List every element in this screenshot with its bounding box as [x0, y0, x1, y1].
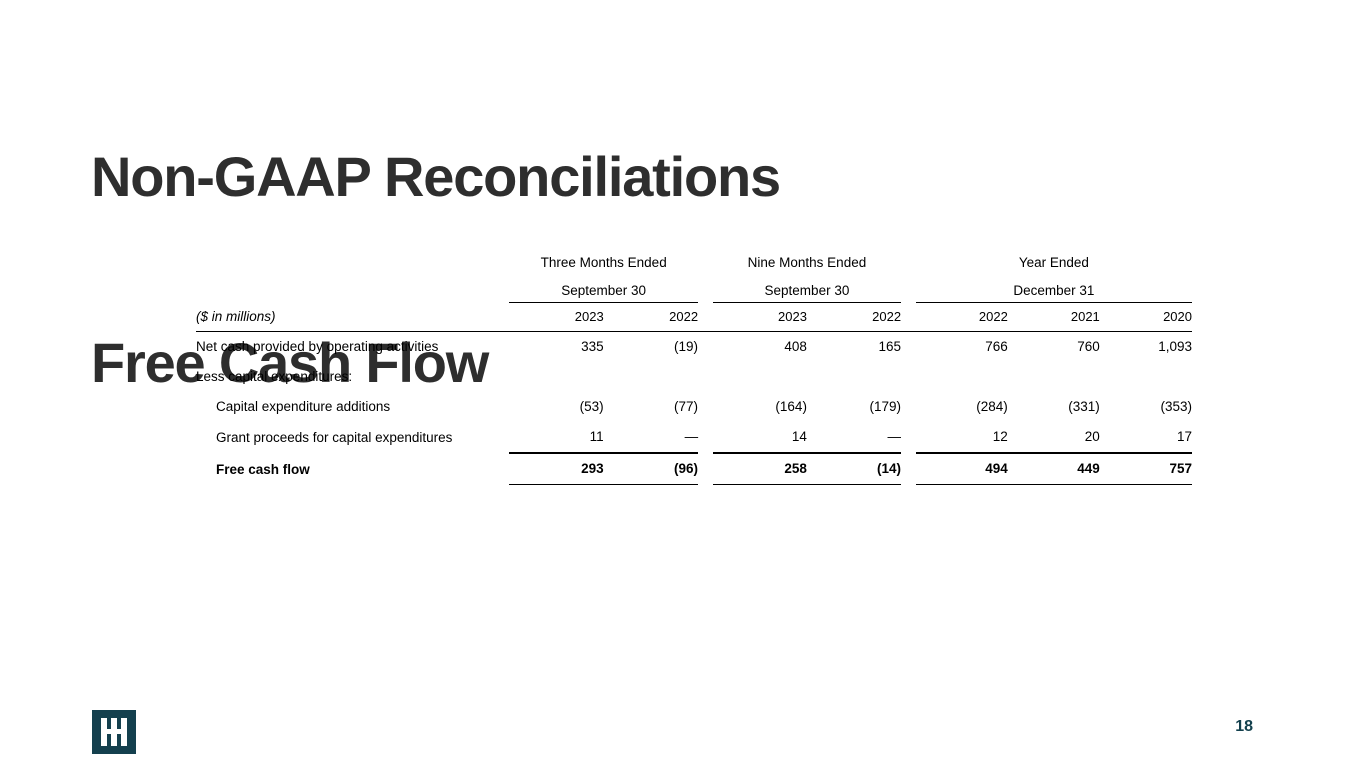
group-title-nine-months: Nine Months Ended [713, 250, 901, 276]
cell-net-cash-ytd-2022: 165 [807, 332, 901, 363]
group-subtitle-spacer [196, 276, 509, 303]
cell-capex-additions-fy-2020: (353) [1100, 392, 1192, 422]
year-header-gap-1 [698, 303, 713, 332]
cell-grant-proceeds-fy-2022: 12 [916, 422, 1008, 453]
cell-grant-proceeds-ytd-2023: 14 [713, 422, 807, 453]
cell-less-capex-ytd-2022 [807, 362, 901, 392]
cell-free-cash-flow-ytd-2023: 258 [713, 453, 807, 485]
group-subtitle-gap-1 [698, 276, 713, 303]
table-row: Capital expenditure additions (53) (77) … [196, 392, 1192, 422]
cell-free-cash-flow-fy-2021: 449 [1008, 453, 1100, 485]
row-label-capex-additions: Capital expenditure additions [196, 392, 509, 422]
cell-free-cash-flow-fy-2022: 494 [916, 453, 1008, 485]
row-gap-1 [698, 453, 713, 485]
page-number: 18 [1235, 718, 1253, 736]
column-header-fy-2021: 2021 [1008, 303, 1100, 332]
company-logo [92, 710, 136, 754]
cell-capex-additions-ytd-2023: (164) [713, 392, 807, 422]
cell-less-capex-q3-2023 [509, 362, 603, 392]
cell-less-capex-fy-2022 [916, 362, 1008, 392]
column-header-fy-2020: 2020 [1100, 303, 1192, 332]
cell-grant-proceeds-q3-2023: 11 [509, 422, 603, 453]
row-label-free-cash-flow: Free cash flow [196, 453, 509, 485]
table-row: Less capital expenditures: [196, 362, 1192, 392]
cell-grant-proceeds-fy-2021: 20 [1008, 422, 1100, 453]
cell-net-cash-fy-2022: 766 [916, 332, 1008, 363]
row-gap-2 [901, 362, 916, 392]
row-gap-1 [698, 422, 713, 453]
group-subtitle-gap-2 [901, 276, 916, 303]
table-year-header-row: ($ in millions) 2023 2022 2023 2022 2022… [196, 303, 1192, 332]
group-subtitle-three-months: September 30 [509, 276, 698, 303]
cell-net-cash-q3-2023: 335 [509, 332, 603, 363]
column-header-ytd-2023: 2023 [713, 303, 807, 332]
cell-less-capex-q3-2022 [604, 362, 698, 392]
cell-free-cash-flow-q3-2023: 293 [509, 453, 603, 485]
cell-free-cash-flow-q3-2022: (96) [604, 453, 698, 485]
row-label-less-capex: Less capital expenditures: [196, 362, 509, 392]
row-gap-1 [698, 332, 713, 363]
cell-net-cash-q3-2022: (19) [604, 332, 698, 363]
row-gap-2 [901, 332, 916, 363]
year-header-gap-2 [901, 303, 916, 332]
cell-free-cash-flow-ytd-2022: (14) [807, 453, 901, 485]
page-title-line-1: Non-GAAP Reconciliations [91, 146, 780, 208]
row-gap-2 [901, 422, 916, 453]
cell-net-cash-fy-2020: 1,093 [1100, 332, 1192, 363]
cell-capex-additions-fy-2021: (331) [1008, 392, 1100, 422]
cell-grant-proceeds-fy-2020: 17 [1100, 422, 1192, 453]
column-header-q3-2023: 2023 [509, 303, 603, 332]
table-row: Grant proceeds for capital expenditures … [196, 422, 1192, 453]
cell-net-cash-fy-2021: 760 [1008, 332, 1100, 363]
table-row: Net cash provided by operating activitie… [196, 332, 1192, 363]
row-gap-1 [698, 392, 713, 422]
cell-less-capex-fy-2021 [1008, 362, 1100, 392]
unit-label: ($ in millions) [196, 303, 509, 332]
row-label-net-cash: Net cash provided by operating activitie… [196, 332, 509, 363]
column-header-ytd-2022: 2022 [807, 303, 901, 332]
group-subtitle-year-ended: December 31 [916, 276, 1192, 303]
table-row-total: Free cash flow 293 (96) 258 (14) 494 449… [196, 453, 1192, 485]
group-title-gap-1 [698, 250, 713, 276]
row-label-grant-proceeds: Grant proceeds for capital expenditures [196, 422, 509, 453]
cell-capex-additions-ytd-2022: (179) [807, 392, 901, 422]
row-gap-2 [901, 453, 916, 485]
table-group-title-row: Three Months Ended Nine Months Ended Yea… [196, 250, 1192, 276]
row-gap-1 [698, 362, 713, 392]
column-header-fy-2022: 2022 [916, 303, 1008, 332]
cell-less-capex-ytd-2023 [713, 362, 807, 392]
cell-grant-proceeds-ytd-2022: — [807, 422, 901, 453]
group-title-three-months: Three Months Ended [509, 250, 698, 276]
group-title-gap-2 [901, 250, 916, 276]
cell-capex-additions-fy-2022: (284) [916, 392, 1008, 422]
column-header-q3-2022: 2022 [604, 303, 698, 332]
cell-capex-additions-q3-2022: (77) [604, 392, 698, 422]
row-gap-2 [901, 392, 916, 422]
group-title-year-ended: Year Ended [916, 250, 1192, 276]
cell-grant-proceeds-q3-2022: — [604, 422, 698, 453]
free-cash-flow-table: Three Months Ended Nine Months Ended Yea… [196, 250, 1192, 485]
group-subtitle-nine-months: September 30 [713, 276, 901, 303]
cell-free-cash-flow-fy-2020: 757 [1100, 453, 1192, 485]
cell-less-capex-fy-2020 [1100, 362, 1192, 392]
group-title-spacer [196, 250, 509, 276]
cell-capex-additions-q3-2023: (53) [509, 392, 603, 422]
cell-net-cash-ytd-2023: 408 [713, 332, 807, 363]
table-group-subtitle-row: September 30 September 30 December 31 [196, 276, 1192, 303]
